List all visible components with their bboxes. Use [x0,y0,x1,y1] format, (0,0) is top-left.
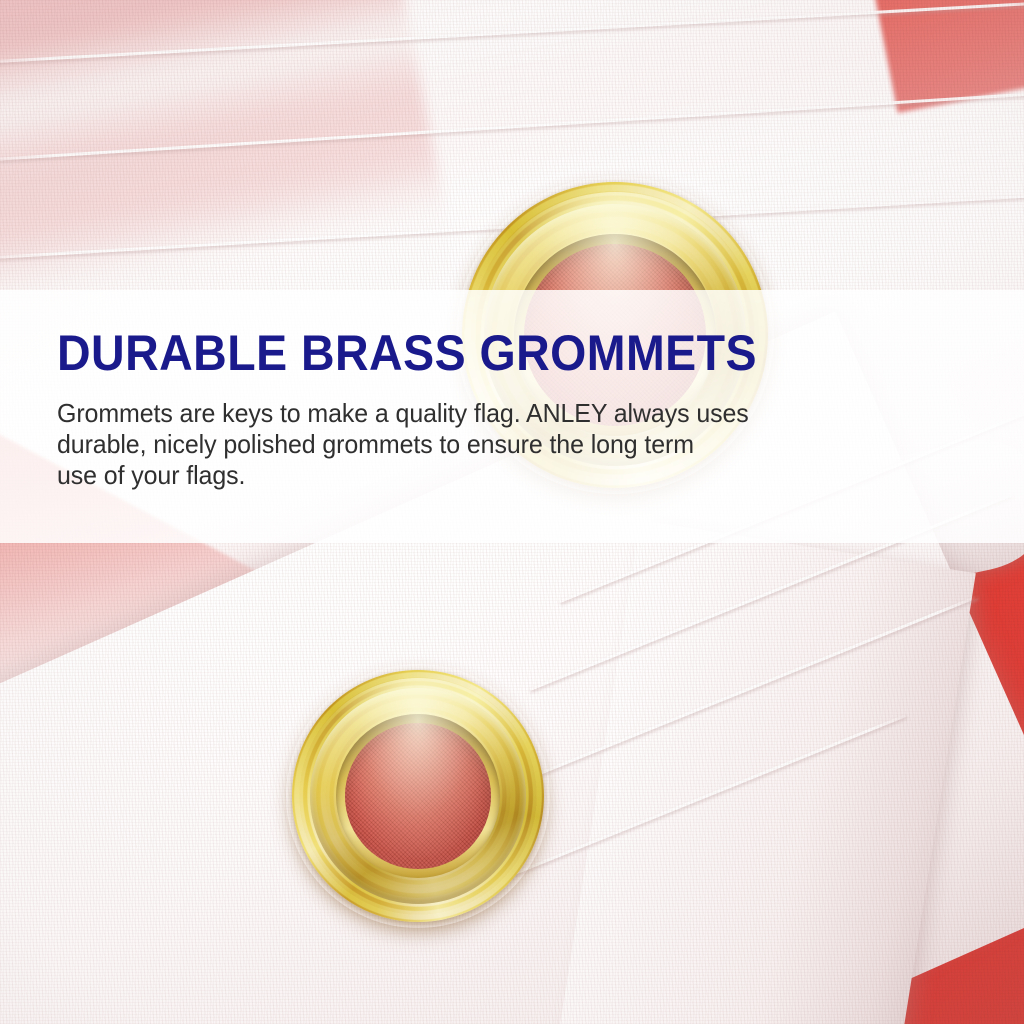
product-marketing-image: DURABLE BRASS GROMMETS Grommets are keys… [0,0,1024,1024]
body-copy-line: Grommets are keys to make a quality flag… [57,398,932,429]
headline: DURABLE BRASS GROMMETS [57,328,904,378]
body-copy-line: durable, nicely polished grommets to ens… [57,429,932,460]
body-copy-line: use of your flags. [57,460,932,491]
body-copy: Grommets are keys to make a quality flag… [57,398,932,491]
text-overlay-band: DURABLE BRASS GROMMETS Grommets are keys… [0,290,1024,543]
brass-grommet-bottom [292,670,544,922]
grommet-hole-red-fabric [345,723,491,869]
